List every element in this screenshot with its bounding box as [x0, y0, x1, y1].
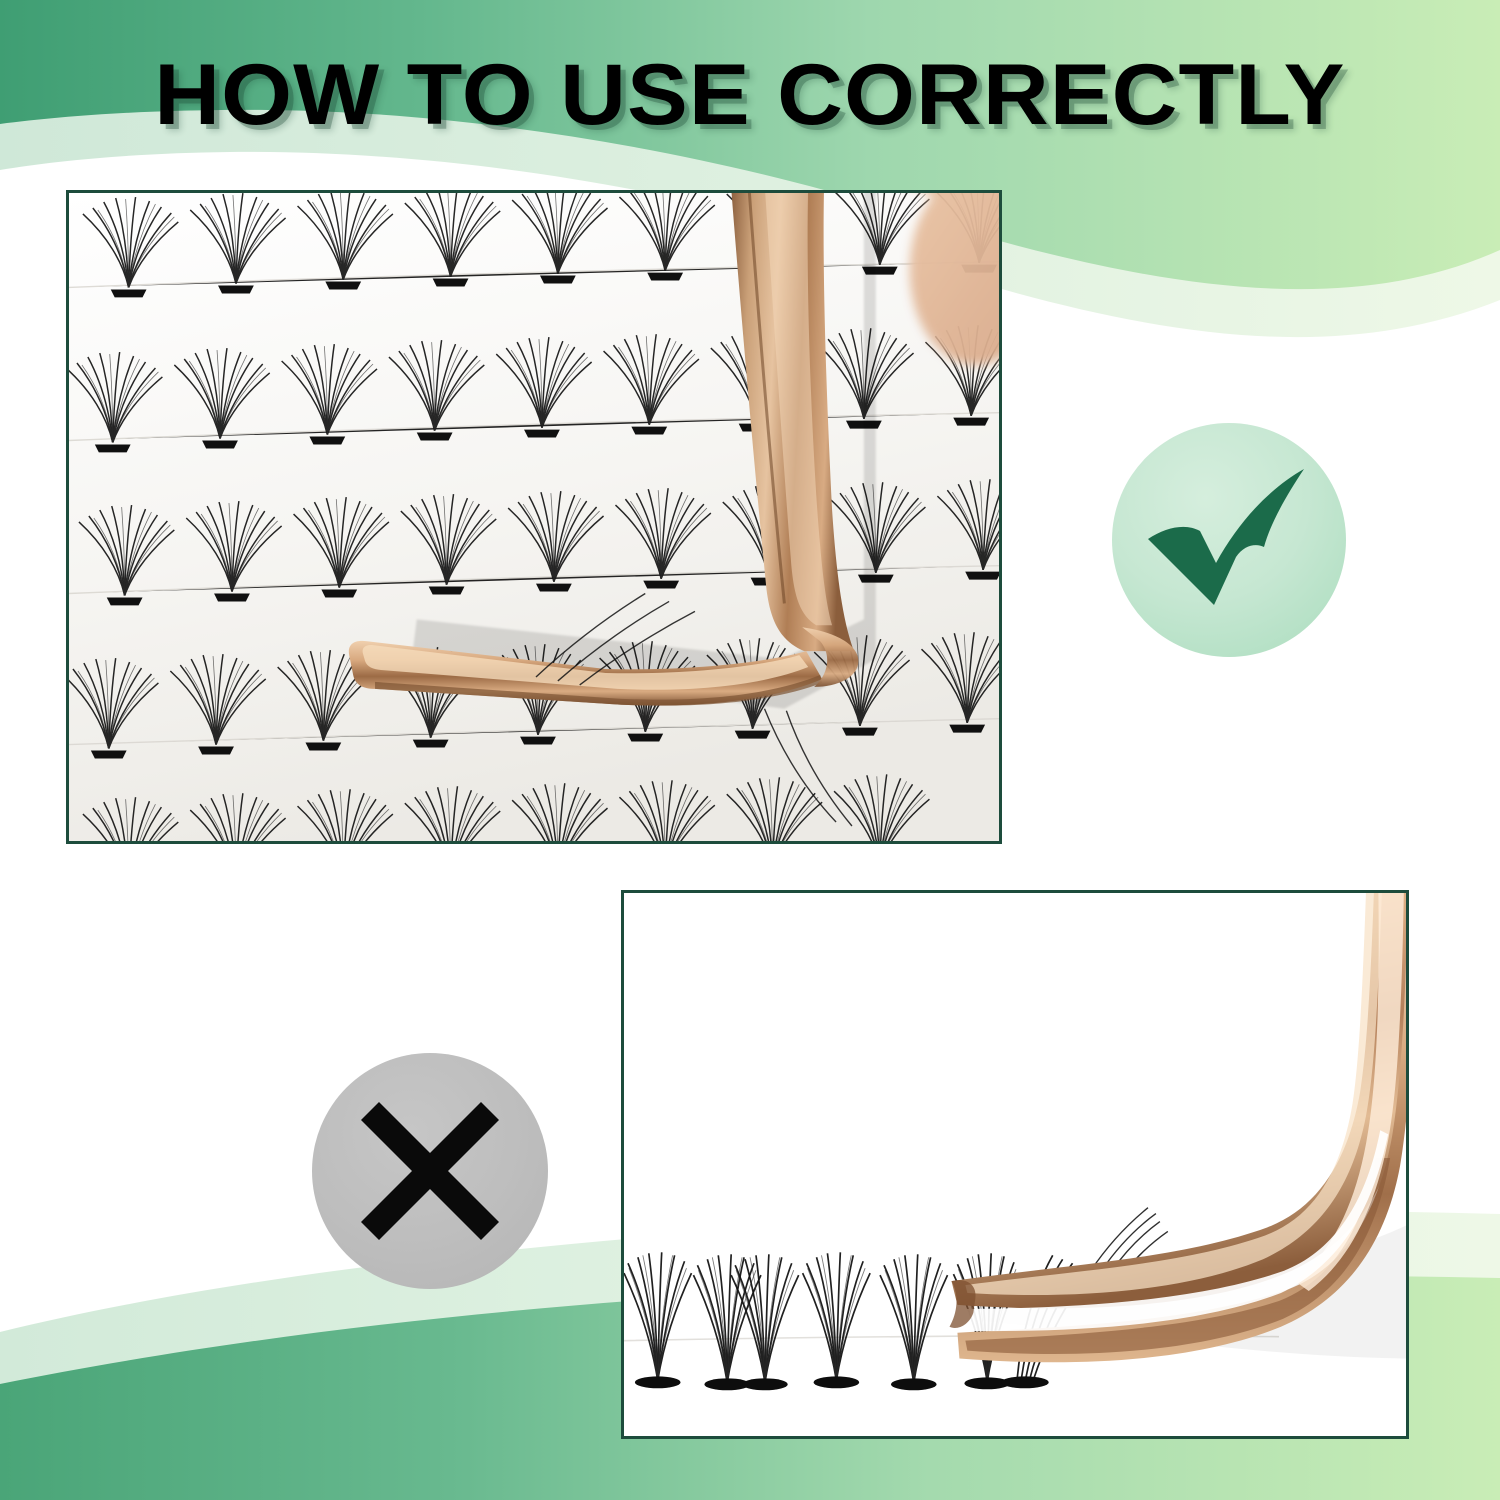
incorrect-badge — [312, 1053, 548, 1289]
photo-correct-usage — [66, 190, 1002, 844]
photo-incorrect-usage — [621, 890, 1409, 1439]
infographic-page: HOW TO USE CORRECTLY — [0, 0, 1500, 1500]
page-title: HOW TO USE CORRECTLY — [0, 52, 1500, 138]
correct-badge — [1112, 423, 1346, 657]
cross-icon — [357, 1098, 503, 1244]
page-title-text: HOW TO USE CORRECTLY — [154, 52, 1345, 138]
check-icon — [1144, 465, 1314, 615]
